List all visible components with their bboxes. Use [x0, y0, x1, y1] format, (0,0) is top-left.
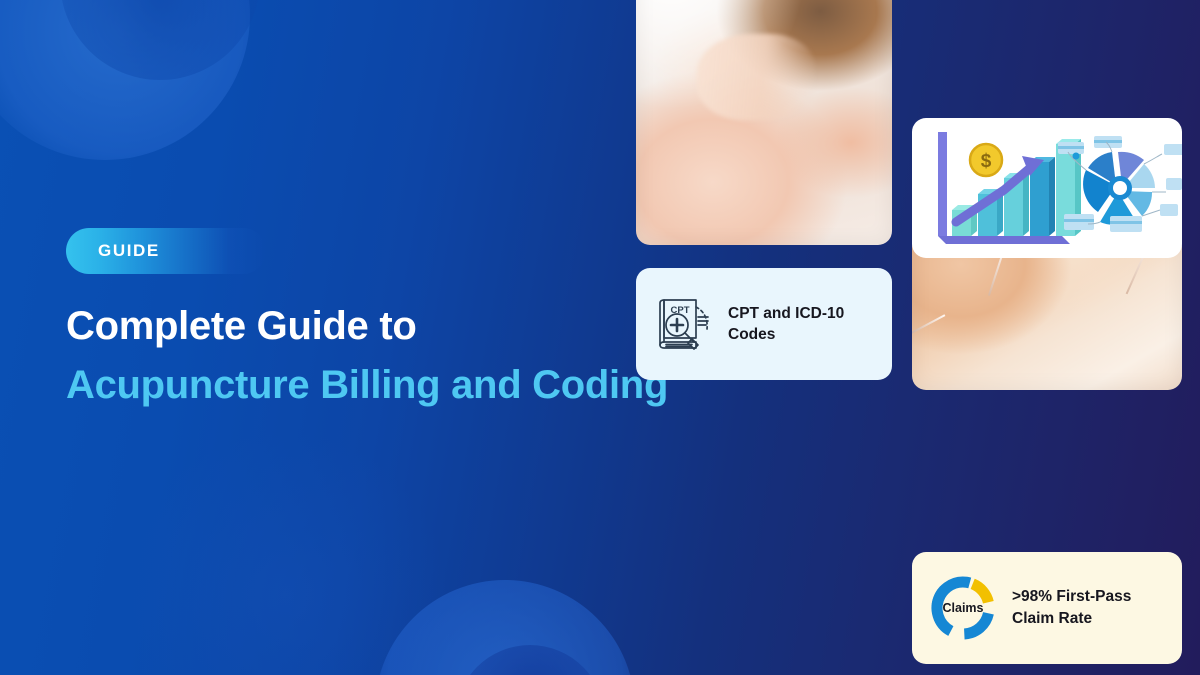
decor-circle-top-left: [0, 0, 250, 160]
billing-analytics-illustration: $: [912, 118, 1182, 258]
cpt-book-label: CPT: [671, 305, 690, 316]
page-title: Complete Guide to: [66, 304, 646, 349]
image-collage: $: [620, 0, 1200, 675]
page-subtitle: Acupuncture Billing and Coding: [66, 363, 646, 408]
guide-badge-label: GUIDE: [98, 228, 160, 274]
claims-donut-center-label: Claims: [926, 571, 1000, 645]
cpt-icd-label: CPT and ICD-10 Codes: [728, 303, 868, 345]
hero-text-block: GUIDE Complete Guide to Acupuncture Bill…: [66, 228, 646, 408]
needle-shape: [912, 314, 946, 334]
decor-circle-bottom-inner: [455, 645, 605, 675]
cpt-book-magnifier-icon: CPT: [652, 293, 714, 355]
guide-badge: GUIDE: [66, 228, 266, 274]
svg-text:$: $: [981, 151, 992, 172]
decor-circle-top-left-inner: [60, 0, 260, 80]
first-pass-claim-rate-card[interactable]: Claims >98% First-Pass Claim Rate: [912, 552, 1182, 664]
hero-banner: GUIDE Complete Guide to Acupuncture Bill…: [0, 0, 1200, 675]
claims-donut-chart-icon: Claims: [926, 571, 1000, 645]
decor-circle-mid-left: [120, 430, 450, 675]
practitioner-hand-shape: [697, 34, 815, 120]
neck-acupuncture-photo: [636, 0, 892, 245]
first-pass-claim-rate-label: >98% First-Pass Claim Rate: [1012, 586, 1162, 630]
decor-circle-bottom-center: [375, 580, 635, 675]
cpt-icd-card[interactable]: CPT CPT and ICD-10 Codes: [636, 268, 892, 380]
